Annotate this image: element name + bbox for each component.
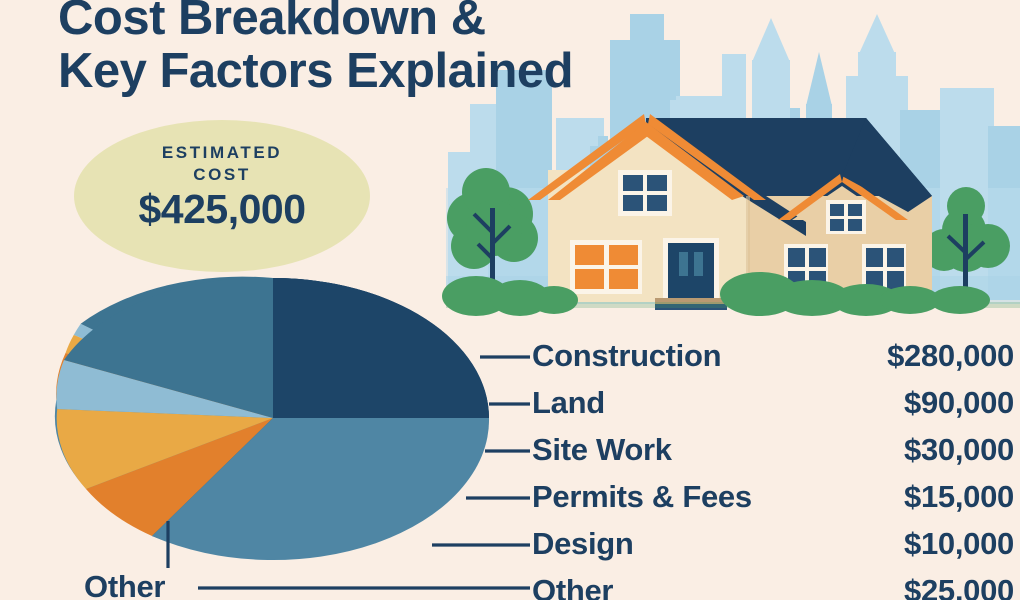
legend-value-other: $25,000 bbox=[838, 573, 1014, 600]
estimated-cost-label-line-1: ESTIMATED bbox=[76, 142, 368, 164]
legend-row-design: Design $10,000 bbox=[532, 526, 1014, 573]
page-title-line-1: Cost Breakdown & bbox=[58, 0, 758, 45]
pie-chart-overlay-slices bbox=[56, 278, 489, 560]
legend-value-design: $10,000 bbox=[838, 526, 1014, 562]
legend-label-site-work: Site Work bbox=[532, 432, 672, 468]
legend-row-land: Land $90,000 bbox=[532, 385, 1014, 432]
page-title-line-2: Key Factors Explained bbox=[58, 45, 758, 98]
legend-row-construction: Construction $280,000 bbox=[532, 338, 1014, 385]
estimated-cost-label-line-2: COST bbox=[76, 164, 368, 186]
legend-label-permits-fees: Permits & Fees bbox=[532, 479, 752, 515]
pie-label-other: Other bbox=[84, 569, 165, 600]
page-title: Cost Breakdown & Key Factors Explained bbox=[58, 0, 758, 98]
legend-value-site-work: $30,000 bbox=[838, 432, 1014, 468]
legend-label-other: Other bbox=[532, 573, 613, 600]
legend-label-construction: Construction bbox=[532, 338, 721, 374]
legend-value-permits-fees: $15,000 bbox=[838, 479, 1014, 515]
cost-legend: Construction $280,000 Land $90,000 Site … bbox=[532, 338, 1014, 600]
infographic-page: Cost Breakdown & Key Factors Explained E… bbox=[0, 0, 1020, 600]
legend-value-land: $90,000 bbox=[838, 385, 1014, 421]
legend-value-construction: $280,000 bbox=[838, 338, 1014, 374]
estimated-cost-badge: ESTIMATED COST $425,000 bbox=[76, 142, 368, 231]
legend-row-permits-fees: Permits & Fees $15,000 bbox=[532, 479, 1014, 526]
legend-row-other: Other $25,000 bbox=[532, 573, 1014, 600]
estimated-cost-value: $425,000 bbox=[76, 188, 368, 231]
legend-row-site-work: Site Work $30,000 bbox=[532, 432, 1014, 479]
legend-label-design: Design bbox=[532, 526, 634, 562]
legend-label-land: Land bbox=[532, 385, 605, 421]
